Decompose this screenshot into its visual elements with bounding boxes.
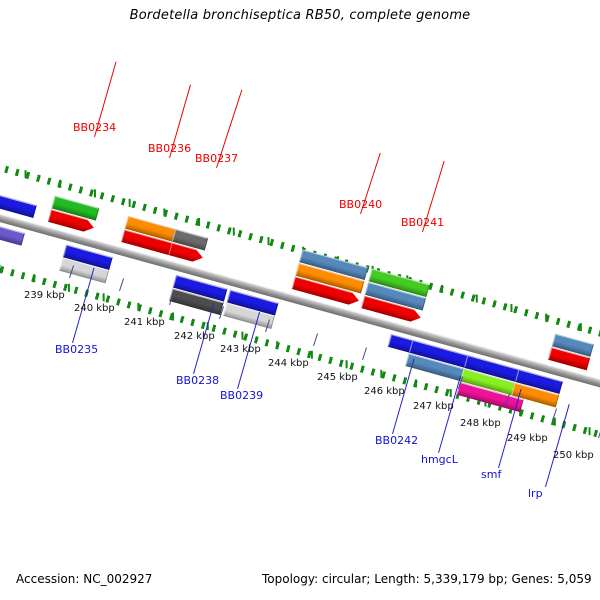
band-tick [59,180,61,188]
band-tick [33,274,35,282]
band-tick [0,265,1,273]
band-tick [241,332,243,340]
band-tick [311,351,313,359]
scale-label: 239 kbp [24,290,65,301]
gene-segment[interactable] [0,192,37,218]
gene-label-bb0235[interactable]: BB0235 [55,343,98,356]
scale-label: 243 kbp [220,344,261,355]
band-tick [172,312,174,320]
band-tick [137,303,139,311]
band-tick [267,237,269,245]
gene-label-bb0239[interactable]: BB0239 [220,389,263,402]
band-tick [441,285,443,293]
band-tick [589,427,591,435]
band-tick [380,370,382,378]
band-tick [103,293,105,301]
scale-label: 245 kbp [317,372,358,383]
genome-stats-text: Topology: circular; Length: 5,339,179 bp… [262,572,592,586]
scale-tick-leader [362,347,367,360]
scale-label: 246 kbp [364,386,405,397]
band-tick [68,284,70,292]
band-tick [25,170,27,178]
scale-label: 241 kbp [124,317,165,328]
scale-label: 242 kbp [174,331,215,342]
gene-label-smf[interactable]: smf [481,468,501,481]
gene-feature[interactable] [548,334,594,372]
scale-label: 249 kbp [507,433,548,444]
accession-text: Accession: NC_002927 [16,572,152,586]
band-tick [450,389,452,397]
band-tick [415,379,417,387]
gene-feature[interactable] [168,229,208,265]
band-tick [510,304,512,312]
band-tick [476,294,478,302]
band-tick [163,208,165,216]
gene-label-bb0238[interactable]: BB0238 [176,374,219,387]
band-tick [346,360,348,368]
band-tick [276,341,278,349]
band-tick [545,314,547,322]
gene-label-lrp[interactable]: lrp [528,487,543,500]
page-title: Bordetella bronchiseptica RB50, complete… [0,8,600,23]
scale-label: 247 kbp [413,401,454,412]
scale-label: 248 kbp [460,418,501,429]
gene-label-hmgcl[interactable]: hmgcL [421,453,458,466]
scale-label: 250 kbp [553,450,594,461]
scale-label: 244 kbp [268,358,309,369]
scale-label: 240 kbp [74,303,115,314]
genome-viewer: Bordetella bronchiseptica RB50, complete… [0,0,600,600]
scale-tick-leader [119,278,124,291]
gene-label-bb0242[interactable]: BB0242 [375,434,418,447]
band-tick [198,218,200,226]
band-tick [233,228,235,236]
scale-tick-leader [313,333,318,346]
band-tick [554,418,556,426]
band-tick [94,189,96,197]
band-tick [580,323,582,331]
band-tick [129,199,131,207]
